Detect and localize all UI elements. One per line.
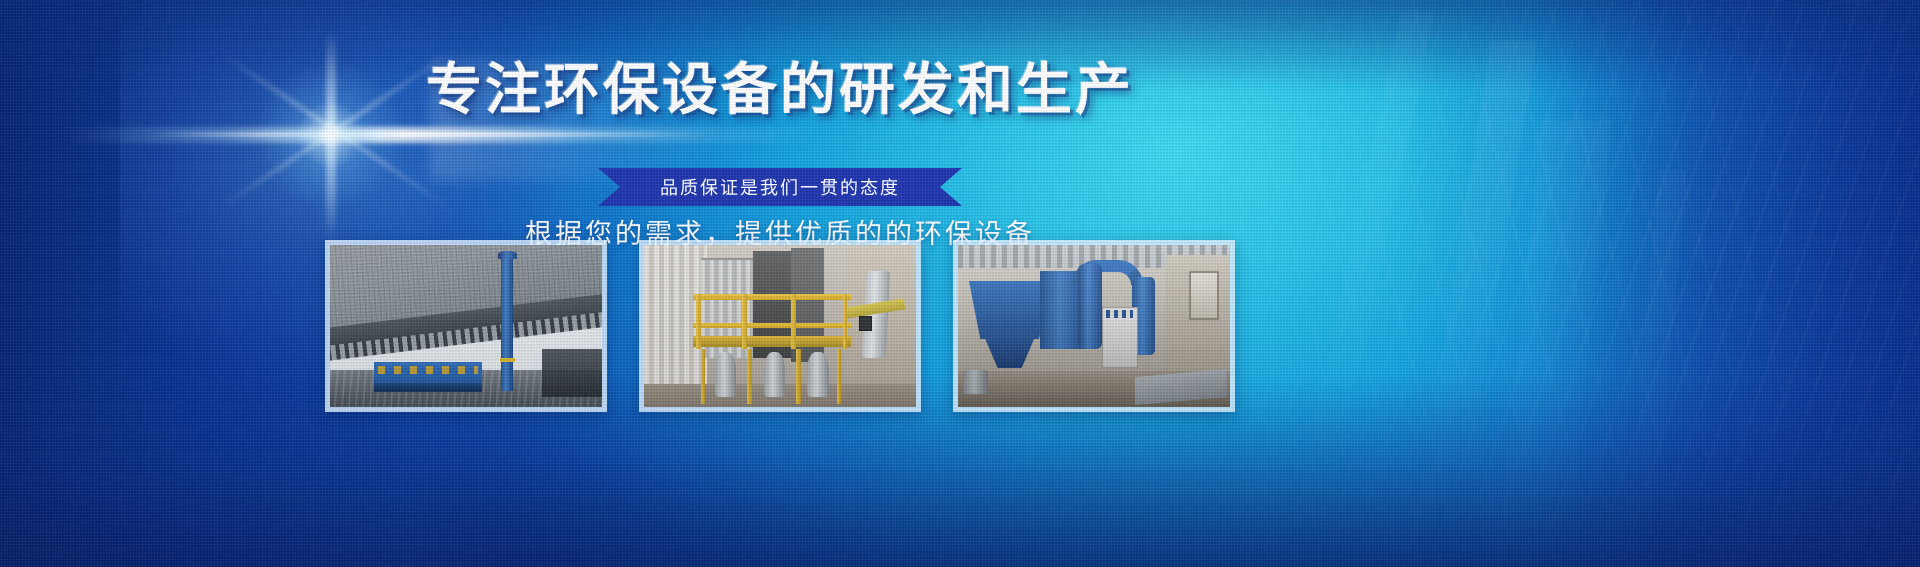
photo1-shadow-box bbox=[542, 349, 602, 398]
photo2-rail-post bbox=[742, 294, 747, 349]
photo2-rail-post bbox=[696, 294, 701, 349]
photo1-chimney bbox=[501, 255, 512, 391]
quality-ribbon-badge: 品质保证是我们一贯的态度 bbox=[598, 168, 962, 206]
photo1-chimney-band bbox=[500, 358, 515, 362]
banner-content: 专注环保设备的研发和生产 品质保证是我们一贯的态度 根据您的需求，提供优质的的环… bbox=[0, 0, 1920, 567]
product-photo-2[interactable] bbox=[639, 240, 921, 412]
banner-headline: 专注环保设备的研发和生产 bbox=[0, 58, 1560, 122]
photo3-shading bbox=[958, 245, 1230, 407]
photo1-chimney-cap bbox=[498, 251, 518, 259]
hero-banner: 专注环保设备的研发和生产 品质保证是我们一贯的态度 根据您的需求，提供优质的的环… bbox=[0, 0, 1920, 567]
photo2-rail-post bbox=[791, 294, 796, 349]
photo2-tank bbox=[807, 352, 829, 397]
photo2-platform-deck bbox=[693, 336, 851, 347]
photo2-support-leg bbox=[701, 349, 705, 404]
product-photo-3[interactable] bbox=[953, 240, 1235, 412]
photo2-tank bbox=[764, 352, 786, 397]
product-photo-2-image bbox=[644, 245, 916, 407]
ribbon-container: 品质保证是我们一贯的态度 bbox=[0, 168, 1560, 206]
photo2-support-leg bbox=[796, 349, 800, 404]
photo2-handrail bbox=[693, 294, 851, 300]
photo2-tank bbox=[715, 352, 737, 397]
photo1-blue-unit bbox=[374, 362, 483, 393]
product-photo-strip bbox=[325, 240, 1235, 412]
product-photo-3-image bbox=[958, 245, 1230, 407]
photo2-wall-box bbox=[859, 316, 873, 331]
photo2-support-leg bbox=[747, 349, 751, 404]
product-photo-1-image bbox=[330, 245, 602, 407]
photo2-support-leg bbox=[837, 349, 841, 404]
photo2-handrail bbox=[693, 323, 851, 329]
product-photo-1[interactable] bbox=[325, 240, 607, 412]
photo2-rail-post bbox=[843, 294, 848, 349]
